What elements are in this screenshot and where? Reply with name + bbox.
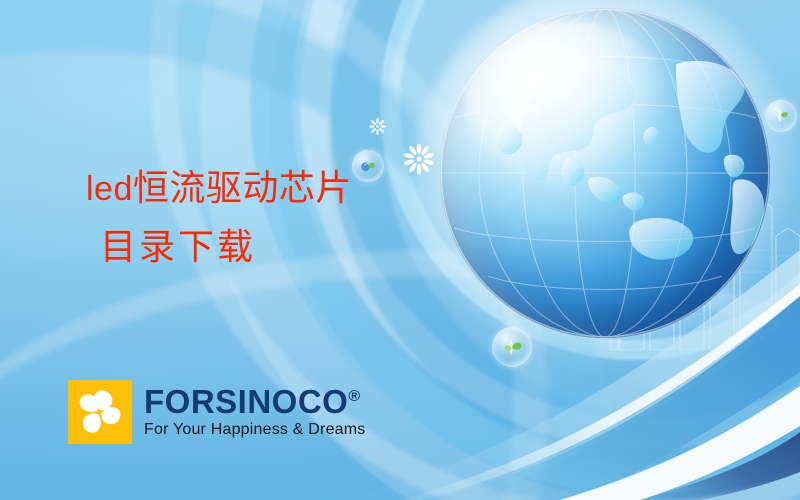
diagonal-ribbon-bands: [0, 240, 800, 500]
headline-cjk: 恒流驱动芯片: [133, 168, 352, 208]
slide-canvas: led恒流驱动芯片 目录下载 FORSINOCO® For Your Happi…: [0, 0, 800, 500]
brand-logo: FORSINOCO® For Your Happiness & Dreams: [68, 380, 366, 444]
bubble-globe-icon: [352, 150, 384, 182]
headline-latin: led: [86, 170, 133, 208]
bubble-leaf-small-icon: [765, 100, 797, 132]
daisy-flower-icon: [404, 144, 434, 174]
pinwheel-petals-icon: [68, 380, 132, 444]
logo-text: FORSINOCO® For Your Happiness & Dreams: [144, 385, 366, 439]
headline-line-1: led恒流驱动芯片: [86, 165, 352, 212]
headline: led恒流驱动芯片 目录下载: [86, 165, 352, 270]
daisy-flower-small-icon: [369, 118, 386, 135]
brand-tagline: For Your Happiness & Dreams: [144, 421, 366, 439]
brand-name: FORSINOCO®: [144, 383, 361, 420]
headline-line-2: 目录下载: [100, 224, 352, 270]
brand-wordmark: FORSINOCO: [144, 383, 348, 420]
registered-mark: ®: [348, 388, 360, 405]
